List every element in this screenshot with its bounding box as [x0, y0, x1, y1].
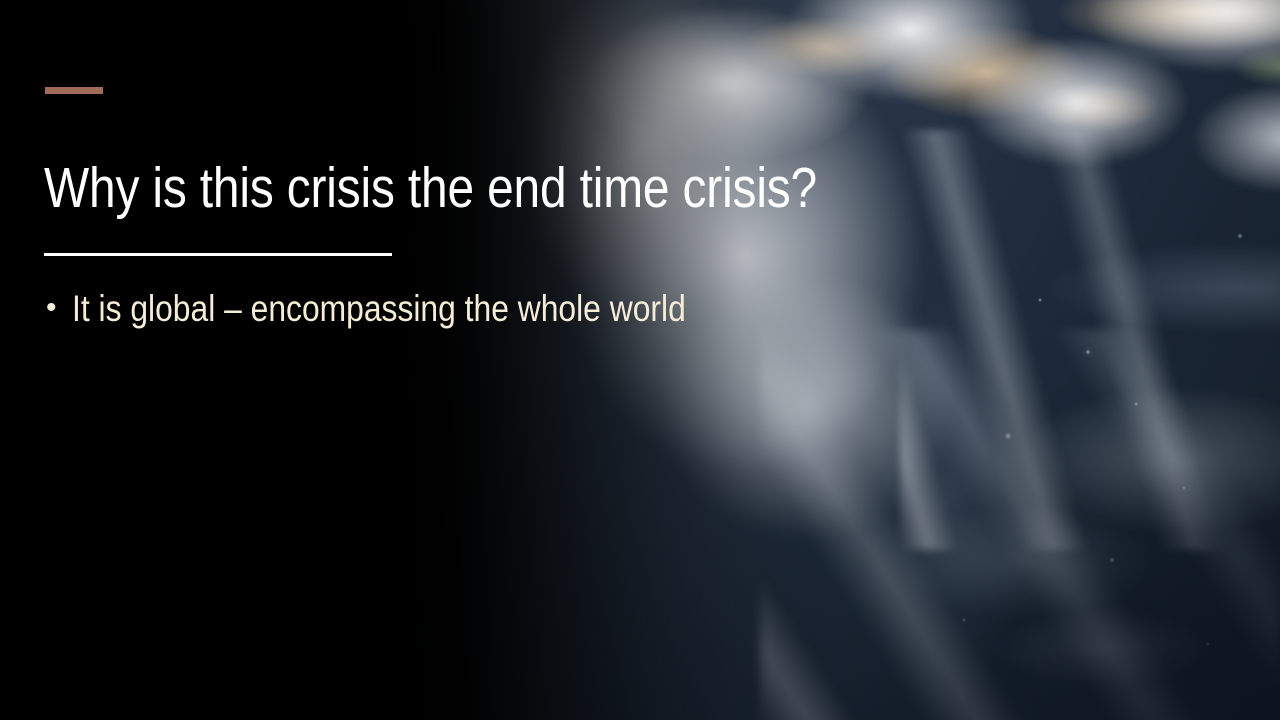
page-title: Why is this crisis the end time crisis? [44, 160, 682, 217]
list-item: • It is global – encompassing the whole … [44, 288, 824, 331]
bullet-point-icon: • [44, 288, 72, 329]
presentation-slide: Why is this crisis the end time crisis? … [0, 0, 1280, 720]
bullet-item-label: It is global – encompassing the whole wo… [72, 288, 686, 331]
bullet-list: • It is global – encompassing the whole … [44, 288, 824, 331]
title-divider [44, 253, 392, 256]
slide-content: Why is this crisis the end time crisis? … [0, 0, 1280, 720]
accent-bar [45, 87, 103, 94]
